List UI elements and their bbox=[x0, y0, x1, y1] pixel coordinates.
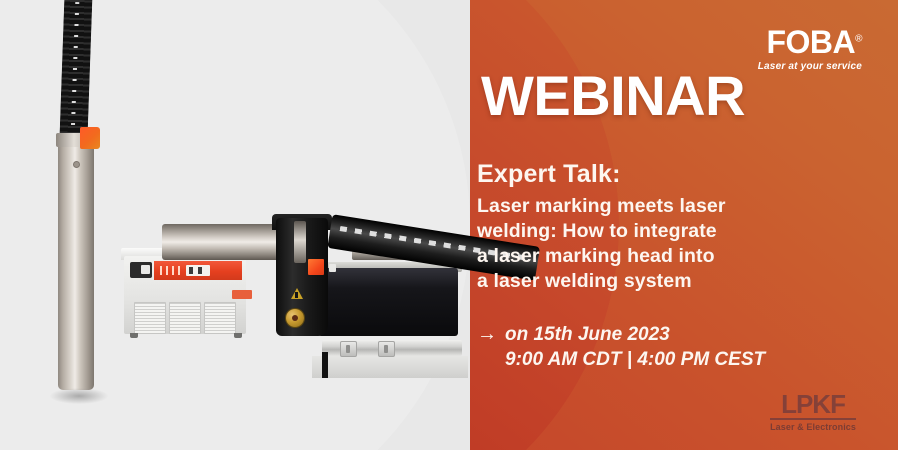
talk-line: welding: How to integrate bbox=[477, 219, 726, 244]
talk-label: Expert Talk: bbox=[477, 160, 621, 189]
talk-description: Laser marking meets laser welding: How t… bbox=[477, 194, 726, 294]
foba-logo: FOBA® Laser at your service bbox=[758, 26, 862, 72]
foba-wordmark: FOBA® bbox=[766, 26, 862, 58]
talk-line: Laser marking meets laser bbox=[477, 194, 726, 219]
schedule-date: on 15th June 2023 bbox=[505, 322, 670, 347]
schedule-date-row: → on 15th June 2023 bbox=[477, 322, 765, 347]
lpkf-wordmark: LPKF bbox=[770, 391, 856, 417]
lpkf-tagline: Laser & Electronics bbox=[770, 422, 856, 432]
talk-line: a laser marking head into bbox=[477, 244, 726, 269]
registered-trademark-icon: ® bbox=[855, 33, 862, 44]
arrow-right-icon: → bbox=[477, 324, 497, 344]
page-title: WEBINAR bbox=[481, 68, 745, 124]
lpkf-logo: LPKF Laser & Electronics bbox=[770, 391, 856, 432]
schedule-time: 9:00 AM CDT | 4:00 PM CEST bbox=[477, 347, 765, 373]
webinar-banner: FOBA® Laser at your service WEBINAR Expe… bbox=[0, 0, 898, 450]
schedule-block: → on 15th June 2023 9:00 AM CDT | 4:00 P… bbox=[477, 322, 765, 373]
banner-content: FOBA® Laser at your service WEBINAR Expe… bbox=[0, 0, 898, 450]
talk-line: a laser welding system bbox=[477, 269, 726, 294]
foba-tagline: Laser at your service bbox=[758, 61, 862, 72]
foba-wordmark-text: FOBA bbox=[766, 24, 855, 60]
